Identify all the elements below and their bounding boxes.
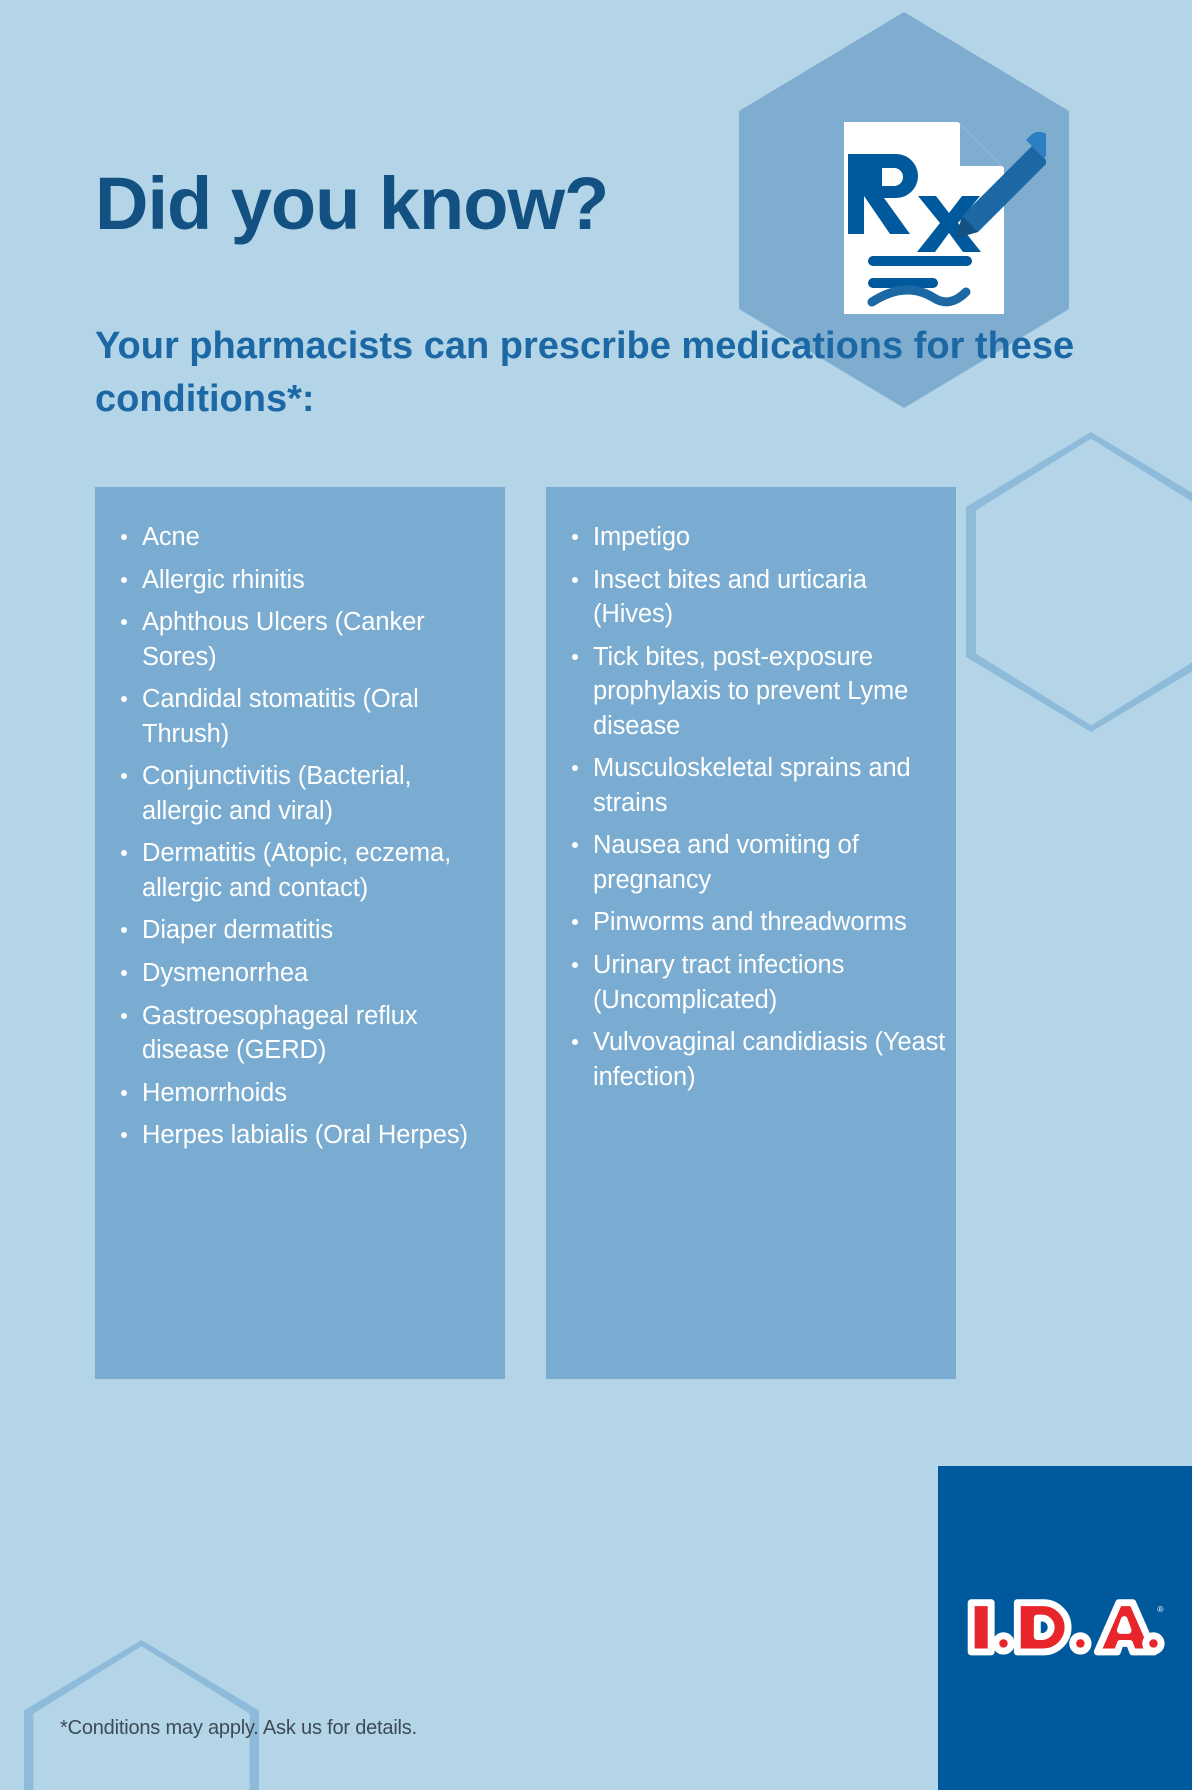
hexagon-decoration-right-middle — [966, 432, 1192, 732]
conditions-list-left: AcneAllergic rhinitisAphthous Ulcers (Ca… — [117, 520, 497, 1161]
condition-item: Insect bites and urticaria (Hives) — [568, 563, 948, 632]
condition-item: Gastroesophageal reflux disease (GERD) — [117, 999, 497, 1068]
condition-item: Candidal stomatitis (Oral Thrush) — [117, 682, 497, 751]
condition-item: Dermatitis (Atopic, eczema, allergic and… — [117, 836, 497, 905]
condition-item: Vulvovaginal candidiasis (Yeast infectio… — [568, 1025, 948, 1094]
page-title: Did you know? — [95, 166, 608, 241]
condition-item: Impetigo — [568, 520, 948, 555]
condition-item: Pinworms and threadworms — [568, 905, 948, 940]
ida-logo-block: ® — [938, 1466, 1192, 1790]
ida-logo-icon: ® — [965, 1595, 1165, 1661]
page-subtitle: Your pharmacists can prescribe medicatio… — [95, 320, 1192, 428]
condition-item: Tick bites, post-exposure prophylaxis to… — [568, 640, 948, 744]
condition-item: Hemorrhoids — [117, 1076, 497, 1111]
hexagon-outline-shape — [24, 1640, 259, 1790]
hexagon-decoration-bottom-left — [24, 1640, 259, 1790]
condition-item: Allergic rhinitis — [117, 563, 497, 598]
condition-item: Nausea and vomiting of pregnancy — [568, 828, 948, 897]
footnote-text: *Conditions may apply. Ask us for detail… — [60, 1717, 417, 1740]
condition-item: Aphthous Ulcers (Canker Sores) — [117, 605, 497, 674]
rx-prescription-icon — [836, 116, 1046, 331]
poster-canvas: Did you know? Your pharmacists can presc… — [0, 0, 1192, 1790]
condition-item: Urinary tract infections (Uncomplicated) — [568, 948, 948, 1017]
hexagon-outline-shape — [966, 432, 1192, 732]
conditions-card-left: AcneAllergic rhinitisAphthous Ulcers (Ca… — [95, 487, 505, 1379]
condition-item: Herpes labialis (Oral Herpes) — [117, 1118, 497, 1153]
condition-item: Musculoskeletal sprains and strains — [568, 751, 948, 820]
conditions-card-right: ImpetigoInsect bites and urticaria (Hive… — [546, 487, 956, 1379]
condition-item: Conjunctivitis (Bacterial, allergic and … — [117, 759, 497, 828]
condition-item: Acne — [117, 520, 497, 555]
condition-item: Dysmenorrhea — [117, 956, 497, 991]
registered-mark: ® — [1157, 1604, 1164, 1614]
conditions-list-right: ImpetigoInsect bites and urticaria (Hive… — [568, 520, 948, 1102]
condition-item: Diaper dermatitis — [117, 913, 497, 948]
